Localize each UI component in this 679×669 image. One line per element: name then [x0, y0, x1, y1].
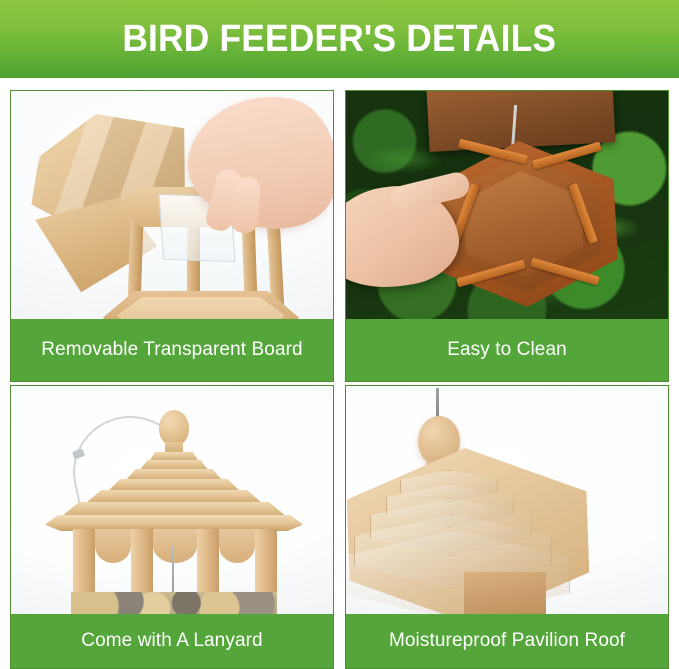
feature-panel-moistureproof-pavilion-roof: Moistureproof Pavilion Roof: [345, 385, 669, 669]
tray-illustration: [346, 91, 668, 319]
feature-panel-removable-transparent-board: Removable Transparent Board: [10, 90, 334, 382]
feature-panel-easy-to-clean: Easy to Clean: [345, 90, 669, 382]
feature-caption: Moistureproof Pavilion Roof: [346, 614, 668, 668]
arch-opening-icon: [95, 529, 131, 563]
feeder-illustration: [11, 91, 333, 319]
base-tray-inner-icon: [117, 297, 285, 319]
roof-tier-icon: [85, 490, 263, 504]
bird-seed-icon: [71, 592, 277, 614]
product-photo-come-with-a-lanyard: [11, 386, 333, 614]
feeder-body-icon: [464, 572, 546, 614]
product-photo-moistureproof-pavilion-roof: [346, 386, 668, 614]
arch-opening-icon: [153, 529, 197, 563]
roof-closeup-illustration: [346, 386, 668, 614]
feature-caption: Easy to Clean: [346, 319, 668, 381]
product-detail-infographic: BIRD FEEDER'S DETAILS: [0, 0, 679, 669]
product-photo-easy-to-clean: [346, 91, 668, 319]
product-photo-removable-transparent-board: [11, 91, 333, 319]
feature-caption: Come with A Lanyard: [11, 614, 333, 668]
page-title: BIRD FEEDER'S DETAILS: [123, 18, 557, 61]
feature-panel-grid: Removable Transparent Board: [0, 78, 679, 669]
arch-opening-icon: [219, 529, 255, 563]
pavilion-feeder-illustration: [11, 386, 333, 614]
finial-icon: [159, 410, 189, 446]
header-banner: BIRD FEEDER'S DETAILS: [0, 0, 679, 78]
feature-caption: Removable Transparent Board: [11, 319, 333, 381]
roof-tier-icon: [61, 502, 287, 517]
feature-panel-come-with-a-lanyard: Come with A Lanyard: [10, 385, 334, 669]
